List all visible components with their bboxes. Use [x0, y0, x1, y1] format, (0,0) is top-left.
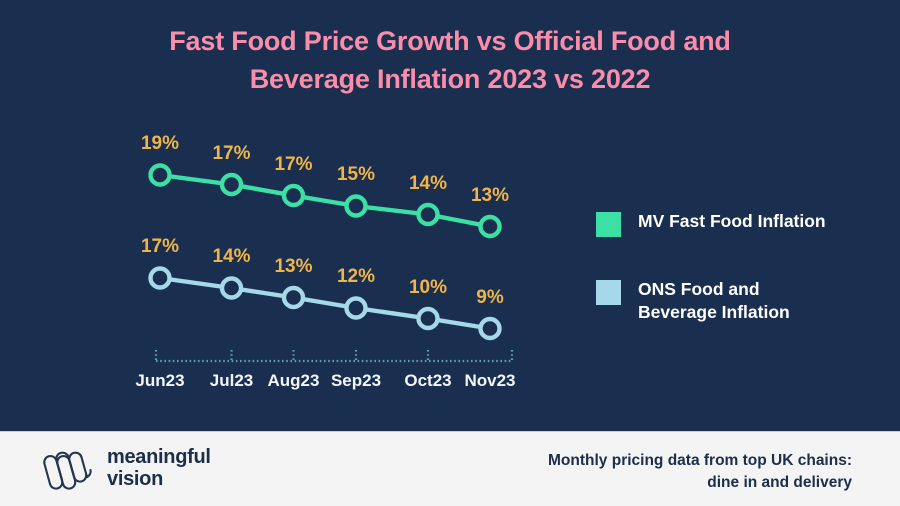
line-chart-svg — [0, 0, 580, 425]
footer-note: Monthly pricing data from top UK chains:… — [548, 450, 852, 494]
legend-label-mv-fast-food: MV Fast Food Inflation — [638, 210, 826, 233]
data-label: 15% — [337, 164, 375, 186]
plot-area: 19%17%17%15%14%13% 17%14%13%12%10%9% Jun… — [0, 0, 580, 425]
brand-wordmark: meaningful vision — [107, 446, 211, 490]
data-label: 17% — [274, 154, 312, 176]
data-label: 13% — [471, 185, 509, 207]
x-axis-tick-labels: Jun23Jul23Aug23Sep23Oct23Nov23 — [0, 371, 580, 397]
x-tick-label: Jun23 — [135, 371, 184, 391]
x-tick-label: Aug23 — [268, 371, 320, 391]
legend-item-mv-fast-food[interactable]: MV Fast Food Inflation — [596, 210, 886, 237]
footer-note-line-1: Monthly pricing data from top UK chains: — [548, 452, 852, 469]
chart-legend: MV Fast Food Inflation ONS Food and Beve… — [596, 210, 886, 365]
legend-label-ons-food-beverage: ONS Food and Beverage Inflation — [638, 278, 790, 324]
meaningful-vision-logo-icon — [38, 446, 94, 490]
legend-label-ons-line-1: ONS Food and — [638, 279, 760, 299]
x-tick-label: Nov23 — [464, 371, 515, 391]
x-tick-label: Sep23 — [331, 371, 381, 391]
x-tick-label: Oct23 — [404, 371, 451, 391]
data-label: 13% — [274, 256, 312, 278]
x-tick-label: Jul23 — [210, 371, 253, 391]
infographic-canvas: Fast Food Price Growth vs Official Food … — [0, 0, 900, 506]
data-label: 14% — [212, 246, 250, 268]
brand-lockup[interactable]: meaningful vision — [38, 446, 211, 490]
brand-wordmark-line-2: vision — [107, 468, 211, 490]
data-label: 10% — [409, 277, 447, 299]
data-label: 9% — [476, 287, 503, 309]
x-axis-line — [156, 350, 512, 361]
footer-note-line-2: dine in and delivery — [548, 472, 852, 494]
data-label: 17% — [212, 143, 250, 165]
legend-item-ons-food-beverage[interactable]: ONS Food and Beverage Inflation — [596, 278, 886, 324]
legend-swatch-light-blue — [596, 280, 621, 305]
data-label: 14% — [409, 173, 447, 195]
footer-bar: meaningful vision Monthly pricing data f… — [0, 431, 900, 506]
legend-swatch-green — [596, 212, 621, 237]
data-label: 12% — [337, 266, 375, 288]
data-label: 19% — [141, 133, 179, 155]
brand-wordmark-line-1: meaningful — [107, 446, 211, 468]
data-label: 17% — [141, 236, 179, 258]
legend-label-ons-line-2: Beverage Inflation — [638, 301, 790, 324]
